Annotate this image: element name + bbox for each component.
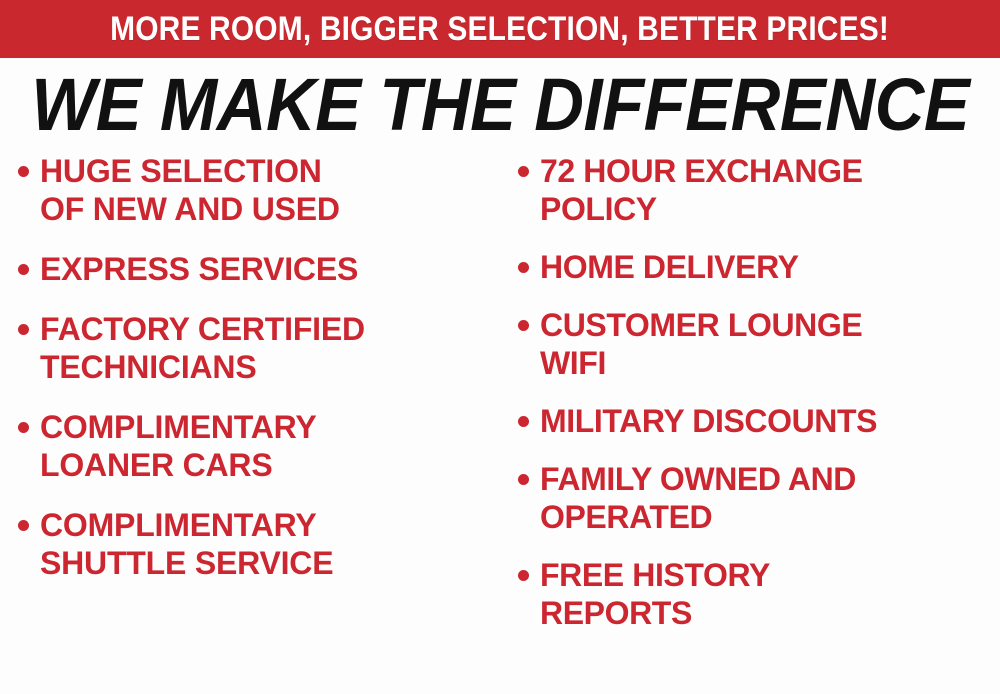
bullet-dot-icon	[518, 474, 529, 485]
list-item-label: COMPLIMENTARY LOANER CARS	[40, 408, 317, 484]
list-item-label: EXPRESS SERVICES	[40, 250, 358, 288]
list-item: HUGE SELECTION OF NEW AND USED	[18, 152, 500, 228]
bullet-dot-icon	[18, 264, 29, 275]
list-item-label: CUSTOMER LOUNGE WIFI	[540, 306, 862, 382]
list-item-label: FACTORY CERTIFIED TECHNICIANS	[40, 310, 365, 386]
bullet-dot-icon	[518, 416, 529, 427]
list-item: FAMILY OWNED AND OPERATED	[518, 460, 1000, 536]
benefits-column-left: HUGE SELECTION OF NEW AND USED EXPRESS S…	[0, 152, 500, 694]
list-item-label: COMPLIMENTARY SHUTTLE SERVICE	[40, 506, 333, 582]
bullet-dot-icon	[518, 262, 529, 273]
list-item: EXPRESS SERVICES	[18, 250, 500, 288]
bullet-dot-icon	[18, 422, 29, 433]
bullet-dot-icon	[518, 570, 529, 581]
list-item-label: 72 HOUR EXCHANGE POLICY	[540, 152, 863, 228]
list-item: 72 HOUR EXCHANGE POLICY	[518, 152, 1000, 228]
list-item-label: MILITARY DISCOUNTS	[540, 402, 877, 440]
promo-banner: MORE ROOM, BIGGER SELECTION, BETTER PRIC…	[0, 0, 1000, 58]
list-item: CUSTOMER LOUNGE WIFI	[518, 306, 1000, 382]
list-item-label: FREE HISTORY REPORTS	[540, 556, 770, 632]
bullet-dot-icon	[18, 520, 29, 531]
bullet-dot-icon	[18, 166, 29, 177]
list-item: FACTORY CERTIFIED TECHNICIANS	[18, 310, 500, 386]
benefits-column-right: 72 HOUR EXCHANGE POLICY HOME DELIVERY CU…	[500, 152, 1000, 694]
promo-banner-text: MORE ROOM, BIGGER SELECTION, BETTER PRIC…	[111, 10, 890, 49]
list-item: MILITARY DISCOUNTS	[518, 402, 1000, 440]
list-item-label: HOME DELIVERY	[540, 248, 799, 286]
list-item: COMPLIMENTARY SHUTTLE SERVICE	[18, 506, 500, 582]
bullet-dot-icon	[518, 320, 529, 331]
benefits-columns: HUGE SELECTION OF NEW AND USED EXPRESS S…	[0, 152, 1000, 694]
page-title: WE MAKE THE DIFFERENCE	[31, 66, 969, 144]
list-item: COMPLIMENTARY LOANER CARS	[18, 408, 500, 484]
list-item-label: HUGE SELECTION OF NEW AND USED	[40, 152, 340, 228]
headline-container: WE MAKE THE DIFFERENCE	[0, 62, 1000, 148]
bullet-dot-icon	[518, 166, 529, 177]
list-item: HOME DELIVERY	[518, 248, 1000, 286]
list-item: FREE HISTORY REPORTS	[518, 556, 1000, 632]
bullet-dot-icon	[18, 324, 29, 335]
list-item-label: FAMILY OWNED AND OPERATED	[540, 460, 856, 536]
